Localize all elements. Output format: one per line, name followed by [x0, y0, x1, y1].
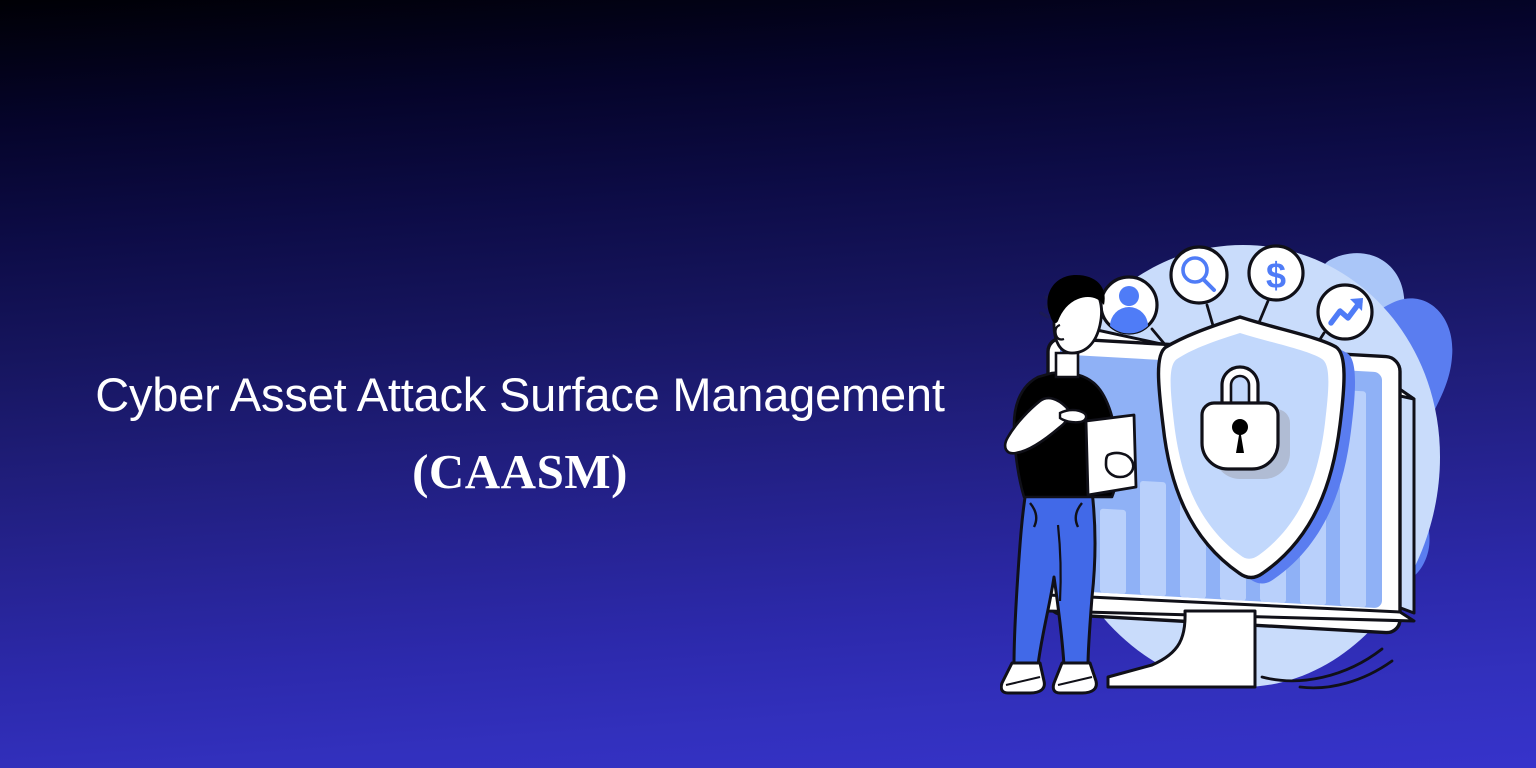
svg-text:$: $ [1266, 255, 1286, 296]
page-title-acronym: (CAASM) [0, 447, 1040, 496]
bar-1 [1100, 509, 1126, 594]
hero-banner: Cyber Asset Attack Surface Management (C… [0, 0, 1536, 768]
person-hand-pointing [1060, 410, 1086, 422]
search-icon [1171, 247, 1227, 303]
page-title: Cyber Asset Attack Surface Management [0, 368, 1040, 423]
bar-2 [1140, 481, 1166, 596]
trend-icon [1318, 285, 1372, 339]
title-block: Cyber Asset Attack Surface Management (C… [0, 368, 1040, 496]
padlock-shackle-inner [1231, 376, 1249, 405]
person-hand-holding [1106, 453, 1133, 477]
person-jeans [1014, 491, 1095, 665]
user-icon [1101, 277, 1157, 333]
dollar-icon: $ [1249, 246, 1303, 300]
cybersecurity-illustration: $ [1000, 225, 1470, 705]
person-neck [1056, 353, 1078, 377]
